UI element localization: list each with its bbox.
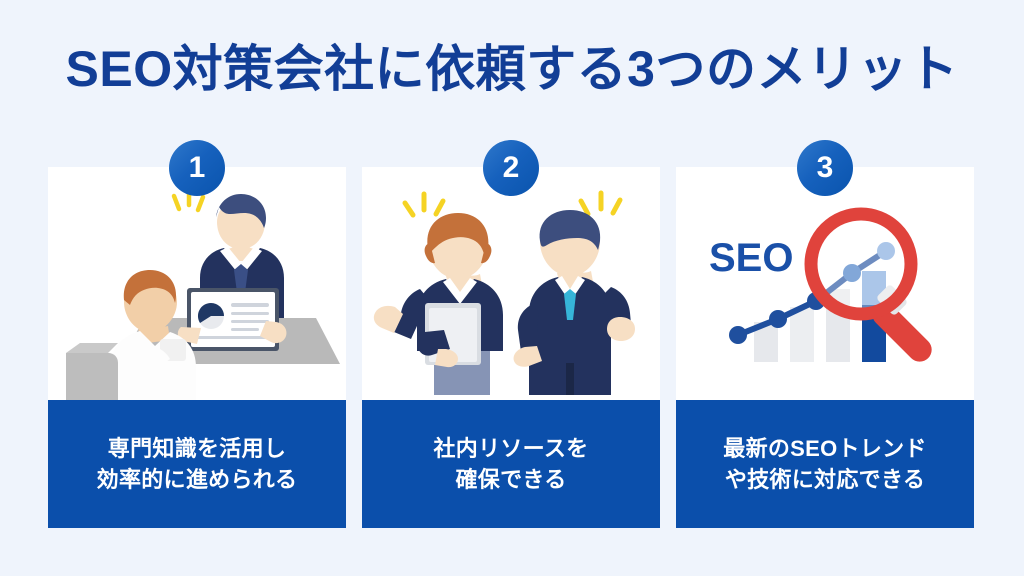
card-illustration-1 (48, 167, 346, 400)
card-illustration-2 (362, 167, 660, 400)
card-caption-1: 専門知識を活用し 効率的に進められる (48, 400, 346, 528)
caption-line: 確保できる (455, 464, 566, 495)
caption-line: 最新のSEOトレンド (723, 433, 926, 464)
benefit-card-2[interactable]: 2 (362, 167, 660, 528)
benefit-card-1[interactable]: 1 (48, 167, 346, 528)
badge-number-2: 2 (483, 140, 539, 196)
page-title: SEO対策会社に依頼する3つのメリット (0, 38, 1024, 100)
badge-number-3: 3 (797, 140, 853, 196)
badge-number-1: 1 (169, 140, 225, 196)
caption-line: や技術に対応できる (725, 464, 925, 495)
card-illustration-3: SEO (676, 167, 974, 400)
cheering-team-icon (362, 167, 660, 400)
seo-illustration-label: SEO (709, 236, 793, 280)
caption-line: 社内リソースを (433, 433, 588, 464)
caption-line: 専門知識を活用し (108, 433, 286, 464)
consultation-meeting-icon (48, 167, 346, 400)
seo-growth-magnifier-icon: SEO (676, 167, 974, 400)
benefit-card-list: 1 (48, 167, 976, 528)
card-caption-2: 社内リソースを 確保できる (362, 400, 660, 528)
card-caption-3: 最新のSEOトレンド や技術に対応できる (676, 400, 974, 528)
caption-line: 効率的に進められる (97, 464, 298, 495)
infographic-slide: SEO対策会社に依頼する3つのメリット 1 (0, 0, 1024, 576)
benefit-card-3[interactable]: 3 (676, 167, 974, 528)
